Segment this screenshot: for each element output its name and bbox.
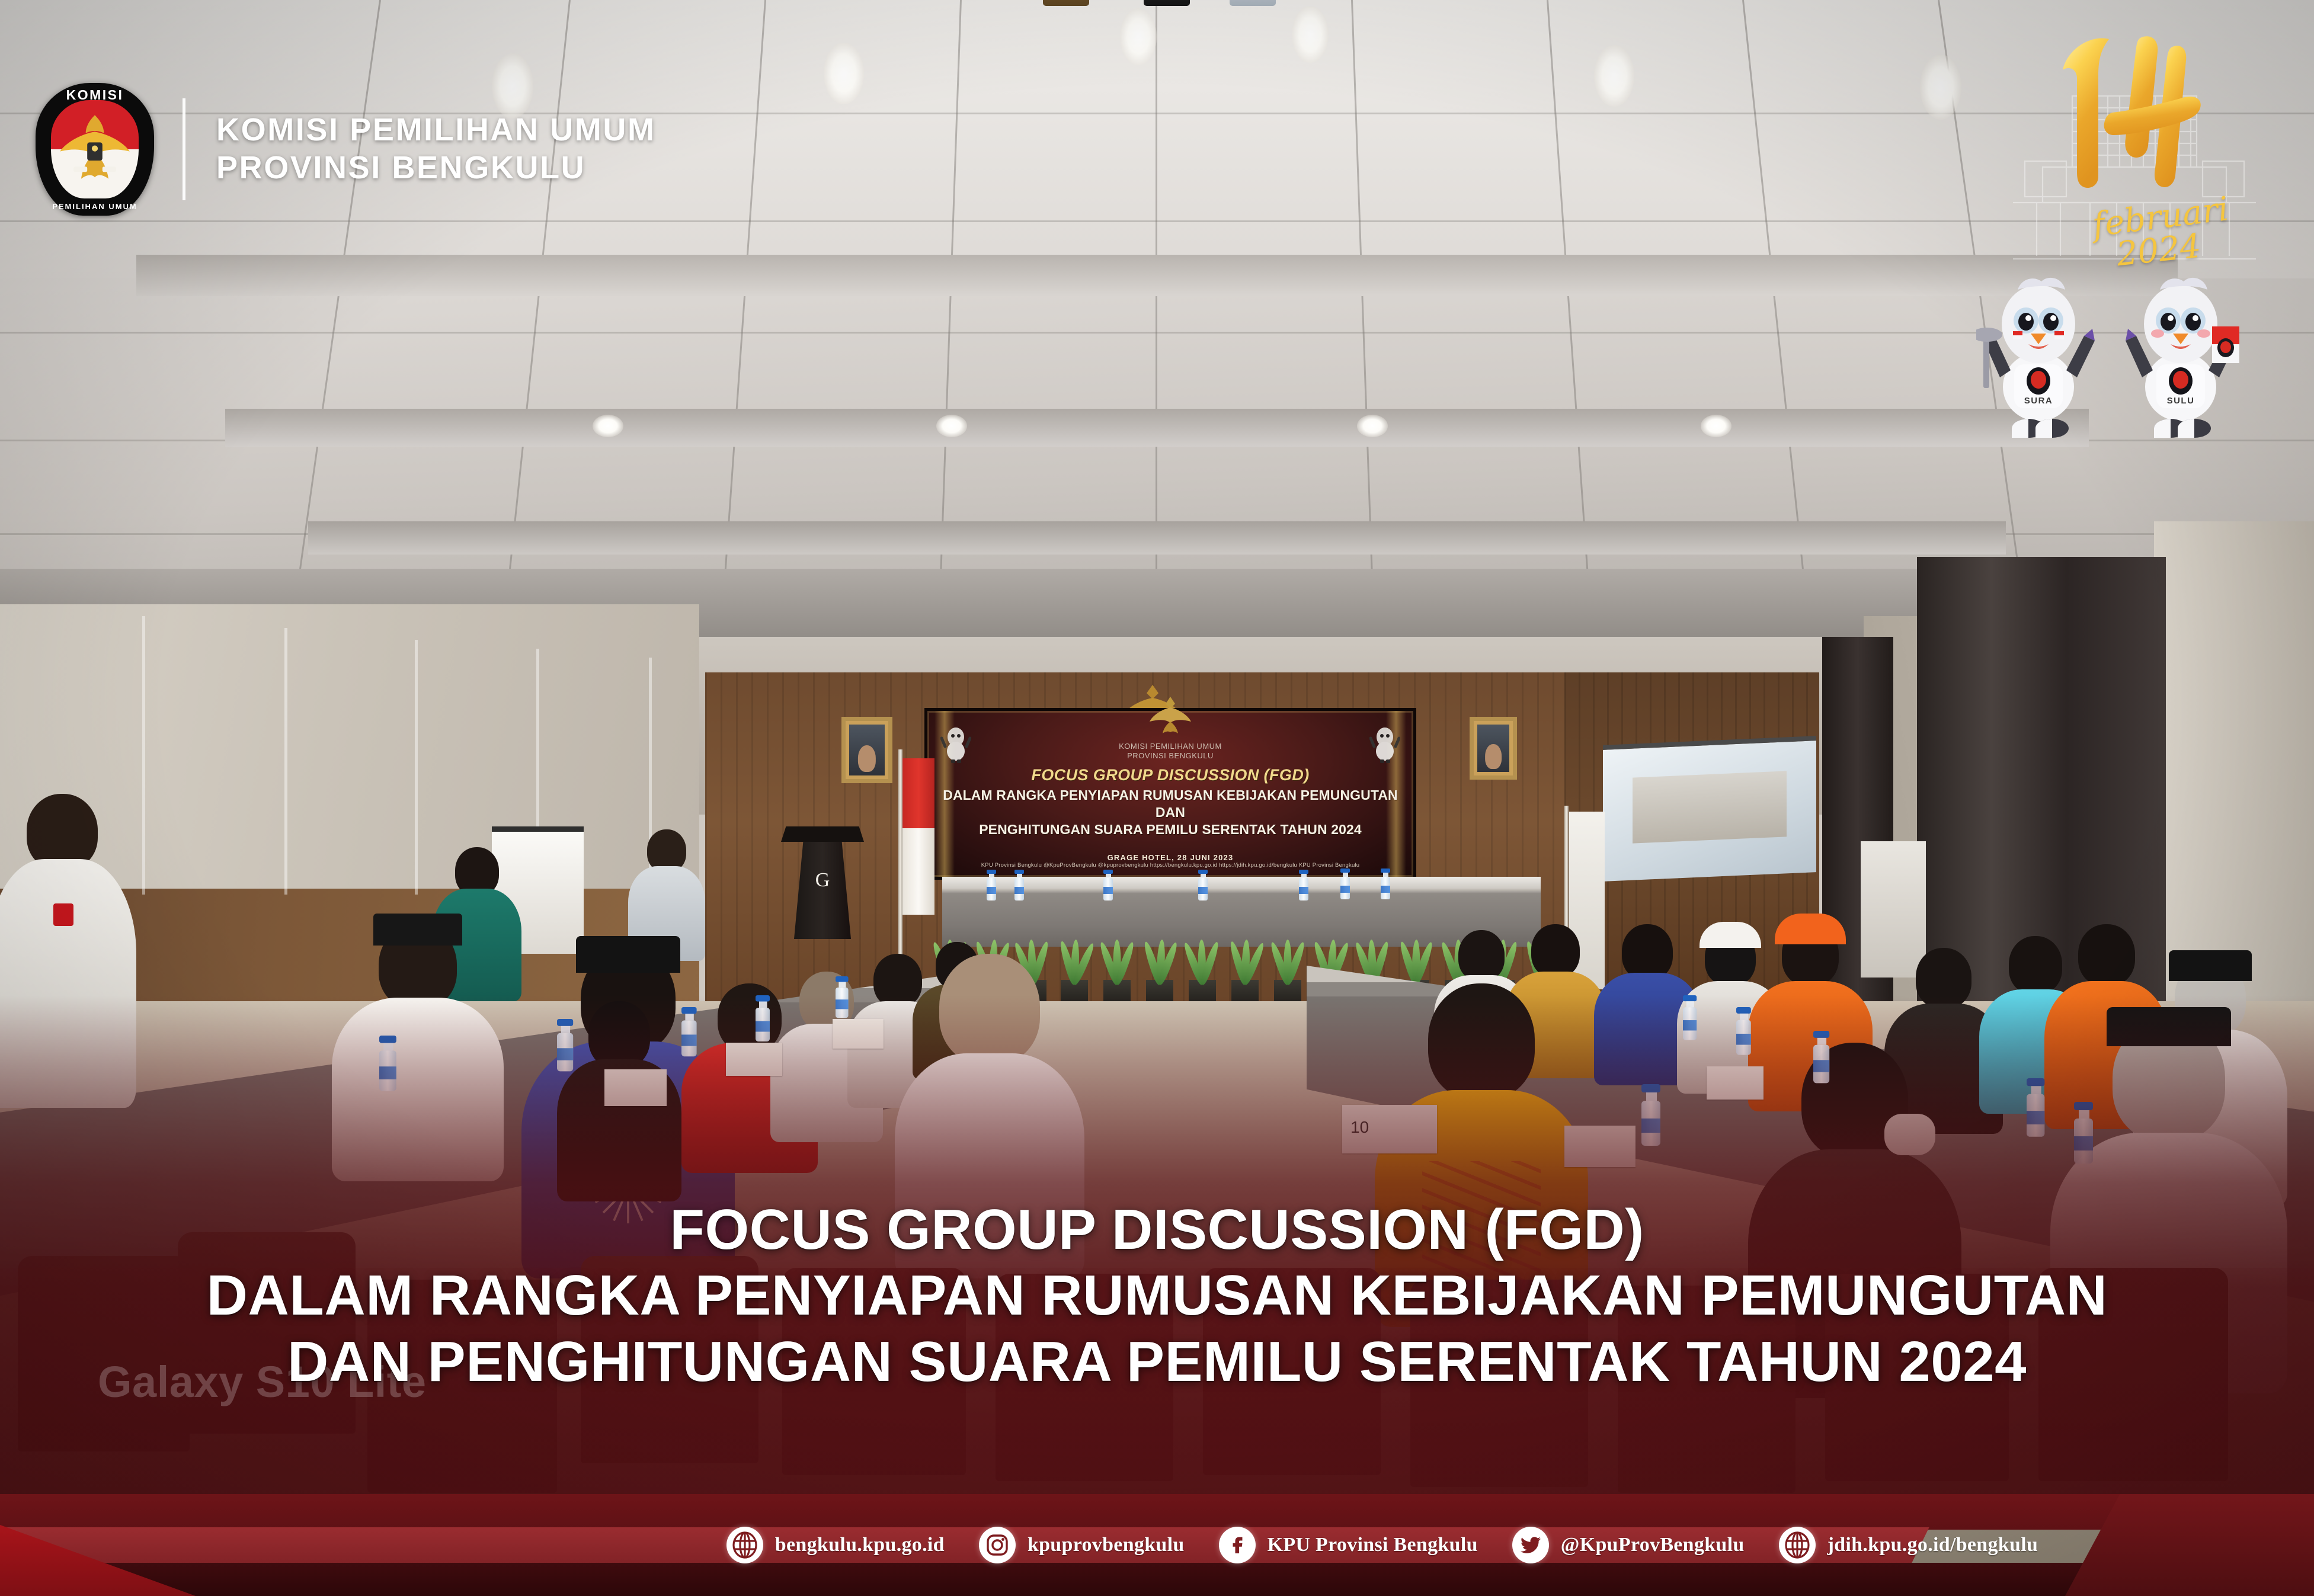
kpu-logo: KOMISI PEMILIHAN UMUM — [36, 83, 154, 216]
mascot-name: SURA — [1976, 396, 2101, 406]
mascot-sura: SURA — [1976, 270, 2101, 447]
brand-divider — [183, 98, 185, 200]
mascot-sulu-icon — [2118, 270, 2243, 447]
main-title-line-3: DAN PENGHITUNGAN SUARA PEMILU SERENTAK T… — [0, 1329, 2314, 1395]
ceiling-downlight — [1920, 55, 1961, 120]
peci-cap — [373, 914, 462, 946]
footer-link-instagram[interactable]: kpuprovbengkulu — [979, 1527, 1185, 1563]
number-14-icon — [2037, 24, 2232, 201]
backdrop-social-strip: KPU Provinsi Bengkulu @KpuProvBengkulu @… — [927, 862, 1413, 868]
wall-portrait-right — [1470, 717, 1517, 780]
wall-portrait-left — [841, 717, 892, 783]
ceiling-downlight — [593, 415, 623, 437]
ceiling-downlight — [1701, 415, 1732, 437]
indonesia-flag — [902, 758, 934, 915]
place-card — [1707, 1066, 1763, 1100]
brand-header: KOMISI PEMILIHAN UMUM KOMISI PEMILIHAN U… — [36, 83, 656, 216]
ceiling-downlight — [1292, 6, 1329, 63]
backdrop-title-body: DALAM RANGKA PENYIAPAN RUMUSAN KEBIJAKAN… — [927, 787, 1413, 838]
ceiling-downlight — [1120, 8, 1157, 65]
footer-link-jdih[interactable]: jdih.kpu.go.id/bengkulu — [1779, 1527, 2038, 1563]
podium-letter: G — [789, 869, 856, 892]
mascot-name: SULU — [2118, 396, 2243, 406]
table-number: 10 — [1350, 1118, 1369, 1136]
footer-link-facebook[interactable]: KPU Provinsi Bengkulu — [1219, 1527, 1478, 1563]
attendee — [332, 924, 504, 1173]
footer-link-label: jdih.kpu.go.id/bengkulu — [1827, 1534, 2038, 1556]
anniversary-number-graphic — [1995, 24, 2274, 204]
peci-cap — [2107, 1007, 2231, 1046]
backdrop-garuda-icon — [1148, 696, 1193, 735]
footer-link-label: kpuprovbengkulu — [1028, 1534, 1185, 1556]
kpu-logo-bottom-word: PEMILIHAN UMUM — [36, 202, 154, 211]
footer-link-website[interactable]: bengkulu.kpu.go.id — [726, 1527, 945, 1563]
panelist — [1230, 0, 1276, 5]
place-card — [833, 1019, 884, 1049]
instagram-icon — [979, 1527, 1016, 1563]
twitter-icon — [1512, 1527, 1549, 1563]
globe-icon — [726, 1527, 763, 1563]
facebook-icon — [1219, 1527, 1256, 1563]
mascot-sulu: SULU — [2118, 270, 2243, 447]
place-card — [726, 1043, 782, 1076]
stage-backdrop-banner: KOMISI PEMILIHAN UMUM PROVINSI BENGKULU … — [924, 708, 1416, 880]
attendee — [628, 829, 705, 954]
backdrop-title-line1: FOCUS GROUP DISCUSSION (FGD) — [927, 766, 1413, 784]
garuda-bird-icon — [57, 105, 133, 188]
footer-bar: bengkulu.kpu.go.id kpuprovbengkulu — [0, 1494, 2314, 1596]
brand-text: KOMISI PEMILIHAN UMUM PROVINSI BENGKULU — [216, 111, 656, 187]
panelist — [1043, 0, 1089, 5]
table-number-card: 10 — [1342, 1105, 1437, 1153]
footer-link-twitter[interactable]: @KpuProvBengkulu — [1512, 1527, 1745, 1563]
mascot-pair: SURA — [1976, 270, 2261, 447]
ceiling-downlight — [936, 415, 967, 437]
peci-cap — [2169, 950, 2252, 981]
attendee — [0, 794, 136, 1102]
ceiling-downlight — [824, 43, 864, 104]
face-mask — [1884, 1114, 1935, 1155]
main-title-line-1: FOCUS GROUP DISCUSSION (FGD) — [0, 1197, 2314, 1262]
projector-screen — [1603, 736, 1816, 882]
anniversary-logo: februari 2024 — [1995, 24, 2274, 278]
brand-line-1: KOMISI PEMILIHAN UMUM — [216, 111, 656, 149]
backdrop-venue-date: GRAGE HOTEL, 28 JUNI 2023 — [927, 853, 1413, 862]
ceiling-downlight — [1594, 45, 1634, 107]
place-card — [1564, 1126, 1636, 1167]
peci-cap — [576, 936, 680, 973]
brand-line-2: PROVINSI BENGKULU — [216, 149, 656, 187]
main-title: FOCUS GROUP DISCUSSION (FGD) DALAM RANGK… — [0, 1197, 2314, 1395]
panelist — [1144, 0, 1190, 5]
globe-icon — [1779, 1527, 1816, 1563]
speaker-podium: G — [789, 826, 856, 939]
footer-link-label: bengkulu.kpu.go.id — [775, 1534, 945, 1556]
poster-canvas: KOMISI PEMILIHAN UMUM PROVINSI BENGKULU … — [0, 0, 2314, 1596]
backdrop-org-name: KOMISI PEMILIHAN UMUM PROVINSI BENGKULU — [927, 742, 1413, 761]
ceiling-downlight — [1357, 415, 1388, 437]
main-title-line-2: DALAM RANGKA PENYIAPAN RUMUSAN KEBIJAKAN… — [0, 1262, 2314, 1328]
orange-cap — [1775, 914, 1846, 944]
footer-link-label: KPU Provinsi Bengkulu — [1268, 1534, 1478, 1556]
mascot-sura-icon — [1976, 270, 2101, 447]
place-card — [604, 1069, 667, 1106]
footer-link-label: @KpuProvBengkulu — [1561, 1534, 1745, 1556]
